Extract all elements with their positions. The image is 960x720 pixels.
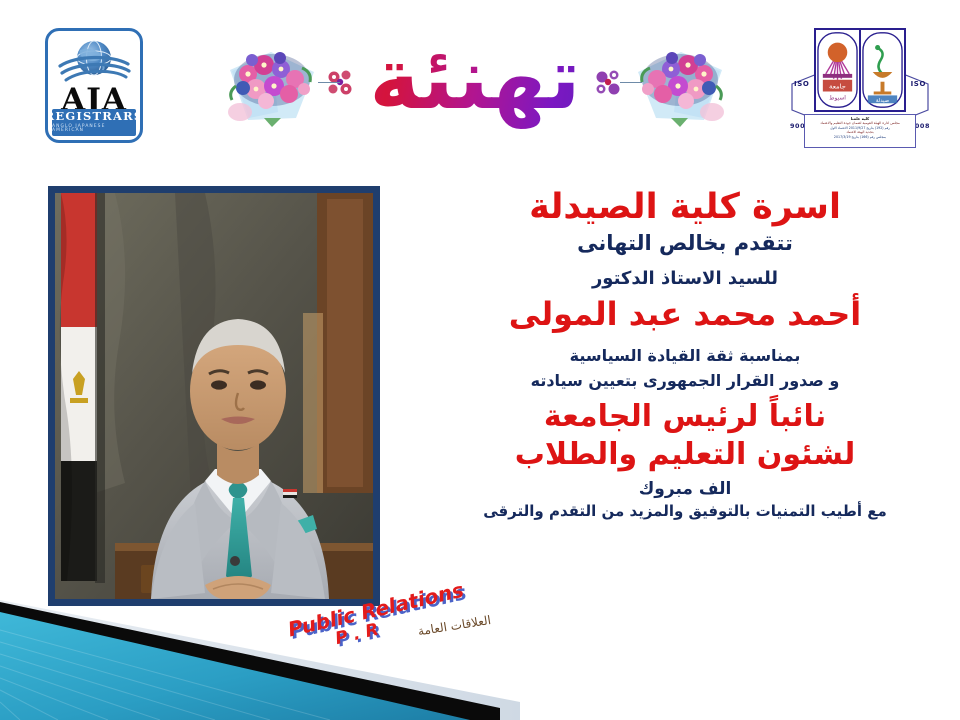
message-line-3: للسيد الاستاذ الدكتور <box>420 269 950 289</box>
message-line-1: اسرة كلية الصيدلة <box>420 188 950 227</box>
floral-ornament-icon-right <box>592 66 626 100</box>
caption-line-5: بمجلس رقم (166) بتاريخ 2017/3/19 <box>812 135 907 139</box>
message-line-2: تتقدم بخالص التهانى <box>420 232 950 256</box>
aja-registrars-logo: AJA REGISTRARS ANGLO JAPANESE AMERICAN <box>45 28 143 143</box>
floral-ornament-icon-left <box>324 66 358 100</box>
caption-line-2: مجلس ادارة الهيئة القومية لضمان جودة الت… <box>812 121 907 125</box>
calligraphy-text: تهنئة <box>330 26 620 134</box>
message-title-line-2: لشئون التعليم والطلاب <box>420 438 950 472</box>
flower-bouquet-icon-left <box>218 34 324 130</box>
portrait-photo-frame <box>48 186 380 606</box>
aja-subtitle-label: ANGLO JAPANESE AMERICAN <box>52 125 136 134</box>
message-wishes: مع أطيب التمنيات بالتوفيق والمزيد من الت… <box>420 503 950 520</box>
card-header: AJA REGISTRARS ANGLO JAPANESE AMERICAN <box>0 0 960 165</box>
crest-container: جامعة اسيوط صيدلة <box>814 28 906 112</box>
congratulation-message: اسرة كلية الصيدلة تتقدم بخالص التهانى لل… <box>420 188 950 520</box>
message-title-line-1: نائباً لرئيس الجامعة <box>420 400 950 434</box>
message-line-5: بمناسبة ثقة القيادة السياسية <box>420 347 950 365</box>
svg-text:صيدلة: صيدلة <box>876 98 890 104</box>
divider-line-left <box>318 82 340 83</box>
aja-logo-banner: REGISTRARS ANGLO JAPANESE AMERICAN <box>52 109 136 136</box>
congratulation-card: AJA REGISTRARS ANGLO JAPANESE AMERICAN <box>0 0 960 720</box>
bowl-of-hygieia-pharmacy-icon: صيدلة <box>861 30 904 110</box>
svg-text:جامعة: جامعة <box>829 83 846 91</box>
iso-right-label: ISO <box>911 80 926 88</box>
message-congrats: الف مبروك <box>420 480 950 499</box>
assiut-university-sun-crest-icon: جامعة اسيوط <box>816 30 859 110</box>
message-line-6: و صدور القرار الجمهورى بتعيين سيادته <box>420 372 950 390</box>
calligraphy-congratulation: تهنئة <box>330 18 620 146</box>
svg-text:اسيوط: اسيوط <box>829 95 846 101</box>
iso-left-label: ISO <box>794 80 809 88</box>
portrait-photo <box>55 193 373 599</box>
aja-registrars-label: REGISTRARS <box>45 111 143 123</box>
assiut-university-faculty-logo: ISO 9001:2015 ISO 9001:2008 <box>790 18 930 150</box>
caption-line-4: بتجديد الهيئة الاعتماد <box>812 131 907 135</box>
flower-bouquet-icon-right <box>628 34 734 130</box>
message-honoree-name: أحمد محمد عبد المولى <box>420 297 950 333</box>
globe-icon <box>56 38 132 86</box>
accreditation-caption: كلية علمنا مجلس ادارة الهيئة القومية لضم… <box>804 114 916 148</box>
